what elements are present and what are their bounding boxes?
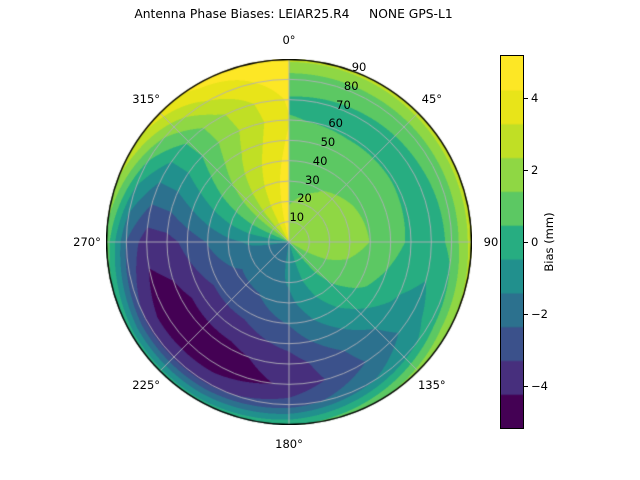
radial-tick-10: 10 xyxy=(289,210,304,224)
colorbar[interactable] xyxy=(500,55,524,429)
polar-contour-canvas xyxy=(106,59,472,425)
radial-tick-30: 30 xyxy=(305,173,320,187)
radial-tick-90: 90 xyxy=(352,60,367,74)
colorbar-gradient xyxy=(500,55,524,429)
colorbar-tick-mark xyxy=(524,170,528,171)
radial-tick-50: 50 xyxy=(321,135,336,149)
radial-tick-20: 20 xyxy=(297,191,312,205)
colorbar-tick-label: −2 xyxy=(531,307,548,321)
angular-tick-45: 45° xyxy=(422,92,442,106)
radial-tick-40: 40 xyxy=(313,154,328,168)
angular-tick-0: 0° xyxy=(282,33,295,47)
colorbar-tick-label: 2 xyxy=(531,163,538,177)
polar-axes[interactable] xyxy=(106,59,472,425)
angular-tick-270: 270° xyxy=(73,235,101,249)
colorbar-tick-mark xyxy=(524,98,528,99)
angular-tick-135: 135° xyxy=(418,378,446,392)
polar-chart-figure: Antenna Phase Biases: LEIAR25.R4 NONE GP… xyxy=(0,0,640,480)
colorbar-tick-label: 4 xyxy=(531,91,538,105)
colorbar-tick-label: −4 xyxy=(531,379,548,393)
colorbar-tick-label: 0 xyxy=(531,235,538,249)
colorbar-tick-mark xyxy=(524,386,528,387)
colorbar-tick-mark xyxy=(524,242,528,243)
angular-tick-180: 180° xyxy=(275,437,303,451)
colorbar-tick-mark xyxy=(524,314,528,315)
colorbar-axis-label: Bias (mm) xyxy=(542,212,556,271)
angular-tick-315: 315° xyxy=(132,92,160,106)
page-title: Antenna Phase Biases: LEIAR25.R4 NONE GP… xyxy=(0,7,587,21)
radial-tick-60: 60 xyxy=(328,116,343,130)
angular-tick-90: 90 xyxy=(484,235,499,249)
radial-tick-80: 80 xyxy=(344,79,359,93)
angular-tick-225: 225° xyxy=(132,378,160,392)
radial-tick-70: 70 xyxy=(336,98,351,112)
